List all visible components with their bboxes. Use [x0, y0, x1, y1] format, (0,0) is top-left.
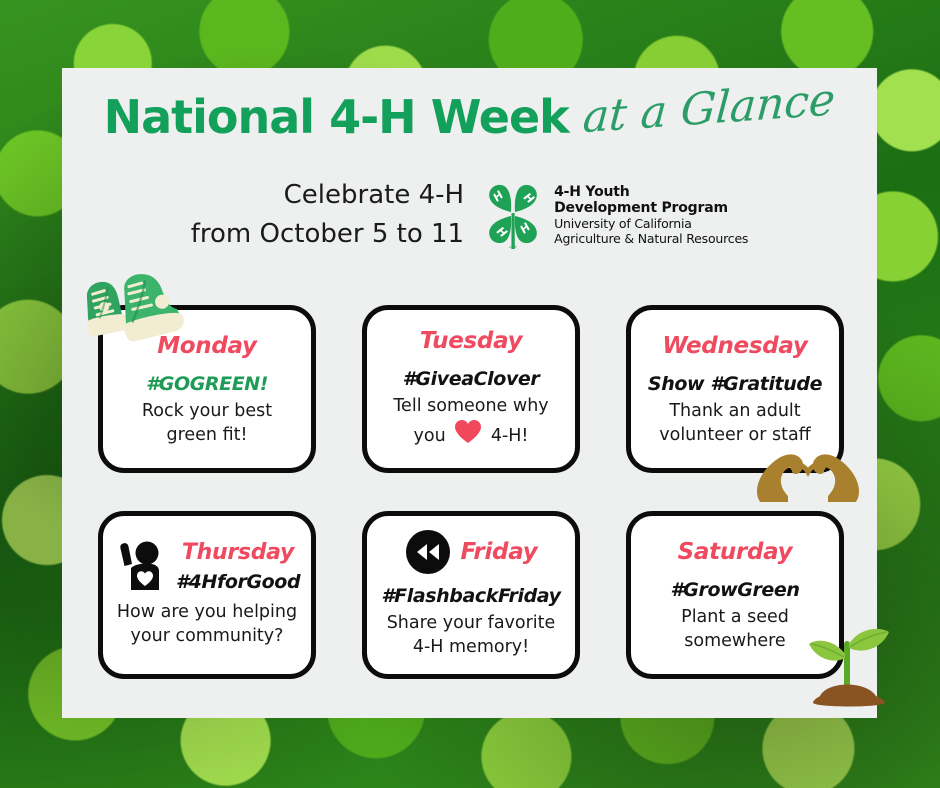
day-label: Friday	[461, 539, 538, 565]
desc-prefix: you	[414, 426, 446, 446]
hashtag-label: #GOGREEN!	[146, 373, 268, 395]
card-description: How are you helping your community?	[117, 601, 297, 648]
day-label: Thursday	[182, 540, 294, 565]
day-card-grid: Monday #GOGREEN! Rock your best green fi…	[98, 305, 843, 679]
day-label: Monday	[157, 333, 257, 359]
page-title: National 4-H Weekat a Glance	[62, 90, 877, 144]
volunteer-person-with-heart-icon	[114, 538, 170, 596]
day-header-thursday: Thursday #4HforGood	[111, 538, 303, 596]
title-script: at a Glance	[581, 74, 837, 143]
subtitle-text: Celebrate 4-H from October 5 to 11	[191, 176, 464, 254]
svg-text:4-H®: 4-H®	[509, 245, 517, 249]
day-header-monday: Monday	[111, 329, 303, 363]
card-description: Plant a seed somewhere	[681, 606, 789, 653]
desc-line-2: green fit!	[142, 424, 272, 448]
desc-line-2: you 4-H!	[393, 419, 548, 452]
logo-line-1: 4-H Youth	[554, 184, 748, 201]
logo-line-3: University of California	[554, 217, 748, 232]
desc-line-2: somewhere	[681, 630, 789, 654]
day-header-tuesday: Tuesday	[375, 324, 567, 358]
day-label: Wednesday	[662, 333, 807, 359]
day-header-saturday: Saturday	[639, 535, 831, 569]
desc-line-1: Thank an adult	[659, 400, 810, 424]
red-heart-icon	[454, 419, 482, 452]
hashtag-label: #GiveaClover	[403, 368, 540, 390]
day-card-saturday[interactable]: Saturday #GrowGreen Plant a seed somewhe…	[626, 511, 844, 679]
day-label: Tuesday	[420, 328, 523, 354]
desc-line-1: Tell someone why	[393, 395, 548, 419]
desc-line-1: Share your favorite	[387, 612, 556, 636]
day-header-wednesday: Wednesday	[639, 329, 831, 363]
day-card-thursday[interactable]: Thursday #4HforGood How are you helping …	[98, 511, 316, 679]
thursday-text-block: Thursday #4HforGood	[176, 540, 300, 593]
logo-text: 4-H Youth Development Program University…	[554, 184, 748, 247]
hashtag-label: #4HforGood	[176, 571, 300, 593]
desc-line-2: 4-H memory!	[387, 636, 556, 660]
card-description: Tell someone why you 4-H!	[393, 395, 548, 451]
four-leaf-clover-icon: H H H H 4-H®	[482, 179, 544, 251]
rewind-circle-icon	[405, 529, 451, 575]
day-card-tuesday[interactable]: Tuesday #GiveaClover Tell someone why yo…	[362, 305, 580, 473]
ucanr-4h-logo: H H H H 4-H® 4-H Youth Development Progr…	[482, 179, 748, 251]
logo-line-4: Agriculture & Natural Resources	[554, 232, 748, 247]
desc-line-1: Rock your best	[142, 400, 272, 424]
hashtag-label: Show #Gratitude	[648, 373, 822, 395]
desc-line-1: Plant a seed	[681, 606, 789, 630]
desc-line-1: How are you helping	[117, 601, 297, 625]
day-card-wednesday[interactable]: Wednesday Show #Gratitude Thank an adult…	[626, 305, 844, 473]
subtitle-line-1: Celebrate 4-H	[191, 176, 464, 215]
card-description: Thank an adult volunteer or staff	[659, 400, 810, 447]
day-header-friday: Friday	[375, 529, 567, 575]
day-card-friday[interactable]: Friday #FlashbackFriday Share your favor…	[362, 511, 580, 679]
subtitle-line-2: from October 5 to 11	[191, 215, 464, 254]
card-description: Share your favorite 4-H memory!	[387, 612, 556, 659]
hashtag-label: #GrowGreen	[670, 579, 799, 601]
poster-panel: National 4-H Weekat a Glance Celebrate 4…	[62, 68, 877, 718]
logo-line-2: Development Program	[554, 200, 748, 217]
title-main: National 4-H Week	[104, 90, 569, 144]
card-description: Rock your best green fit!	[142, 400, 272, 447]
hashtag-label: #FlashbackFriday	[381, 585, 560, 607]
subtitle-block: Celebrate 4-H from October 5 to 11 H H H…	[62, 176, 877, 254]
desc-line-2: your community?	[117, 625, 297, 649]
desc-line-2: volunteer or staff	[659, 424, 810, 448]
desc-suffix: 4-H!	[491, 426, 529, 446]
day-card-monday[interactable]: Monday #GOGREEN! Rock your best green fi…	[98, 305, 316, 473]
day-label: Saturday	[678, 539, 793, 565]
